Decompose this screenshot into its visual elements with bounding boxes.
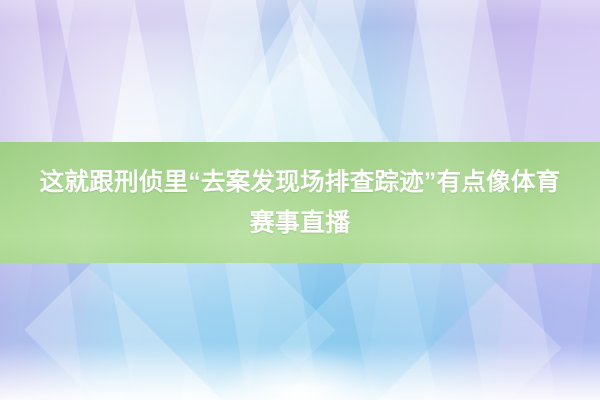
- caption-line-1: 这就跟刑侦里“去案发现场排查踪迹”有点像体育: [40, 163, 561, 203]
- caption-band: 这就跟刑侦里“去案发现场排查踪迹”有点像体育 赛事直播: [0, 142, 600, 263]
- caption-line-2: 赛事直播: [250, 203, 351, 243]
- top-edge-glow: [0, 0, 600, 26]
- caption-banner-image: 这就跟刑侦里“去案发现场排查踪迹”有点像体育 赛事直播: [0, 0, 600, 400]
- watermark-haze: [252, 382, 348, 398]
